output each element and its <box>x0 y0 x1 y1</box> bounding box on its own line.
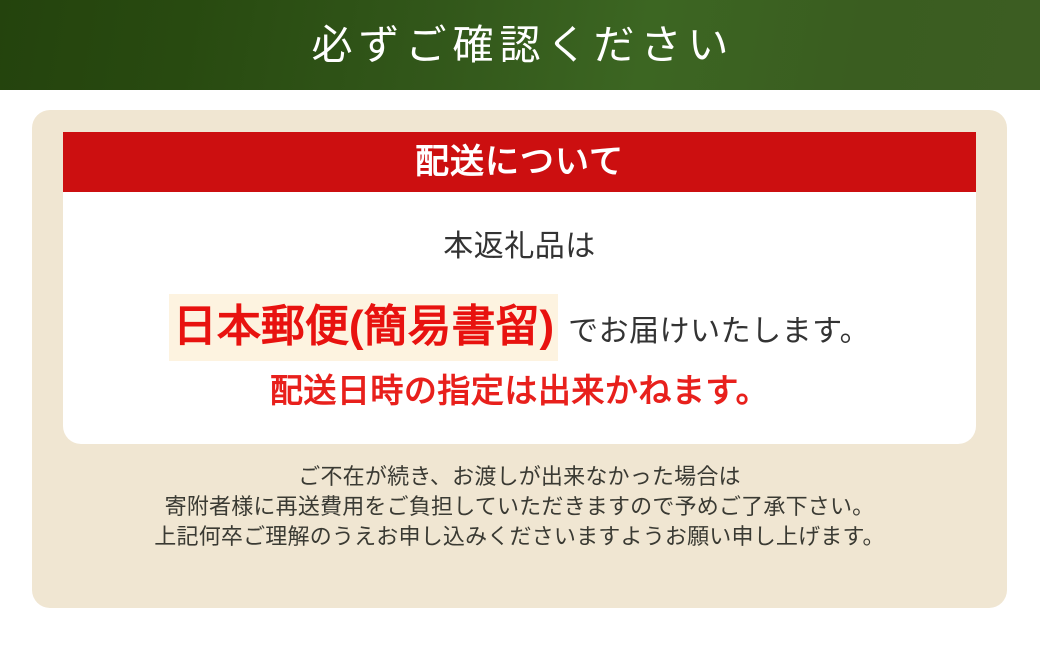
carrier-name-highlight: 日本郵便(簡易書留) <box>169 294 558 361</box>
footer-notes: ご不在が続き、お渡しが出来なかった場合は 寄附者様に再送費用をご負担していただき… <box>63 462 976 552</box>
notice-page: 必ずご確認ください 配送について 本返礼品は 日本郵便(簡易書留) でお届けいた… <box>0 0 1040 646</box>
card-body: 本返礼品は 日本郵便(簡易書留) でお届けいたします。 配送日時の指定は出来かね… <box>63 192 976 444</box>
carrier-line: 日本郵便(簡易書留) でお届けいたします。 <box>63 294 976 361</box>
footer-note-line: 上記何卒ご理解のうえお申し込みくださいますようお願い申し上げます。 <box>63 522 976 552</box>
footer-note-line: 寄附者様に再送費用をご負担していただきますので予めご了承下さい。 <box>63 492 976 522</box>
intro-line: 本返礼品は <box>63 232 976 262</box>
header-banner: 必ずご確認ください <box>0 0 1040 90</box>
card-heading-bar: 配送について <box>63 132 976 192</box>
carrier-delivery-text: でお届けいたします。 <box>558 317 870 347</box>
header-title: 必ずご確認ください <box>306 25 735 66</box>
card-heading-text: 配送について <box>415 145 624 179</box>
delivery-date-notice: 配送日時の指定は出来かねます。 <box>63 374 976 407</box>
footer-note-line: ご不在が続き、お渡しが出来なかった場合は <box>63 462 976 492</box>
shipping-info-card: 配送について 本返礼品は 日本郵便(簡易書留) でお届けいたします。 配送日時の… <box>63 132 976 444</box>
